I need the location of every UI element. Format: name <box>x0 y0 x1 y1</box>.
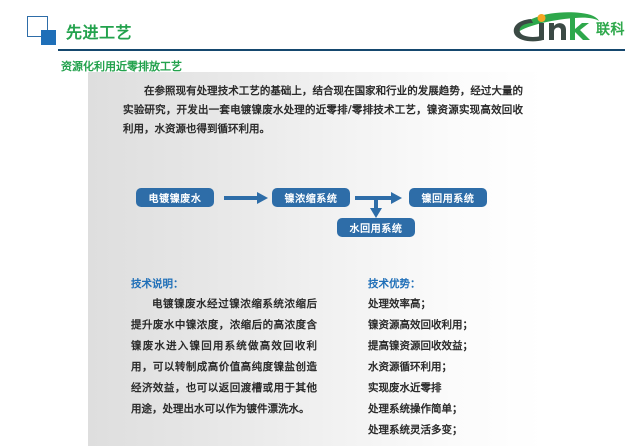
tech-description-text: 电镀镍废水经过镍浓缩系统浓缩后提升废水中镍浓度，浓缩后的高浓度含镍废水进入镍回用… <box>131 294 317 420</box>
tech-description-heading: 技术说明： <box>131 276 184 291</box>
list-item: 镍资源高效回收利用； <box>368 315 548 336</box>
intro-paragraph: 在参照现有处理技术工艺的基础上，结合现在国家和行业的发展趋势，经过大量的实验研究… <box>123 82 523 139</box>
brand-letter-i <box>539 23 544 40</box>
list-item: 实现废水近零排 <box>368 378 548 399</box>
list-item: 处理系统灵活多变； <box>368 420 548 441</box>
tech-advantages-list: 处理效率高； 镍资源高效回收利用； 提高镍资源回收效益； 水资源循环利用； 实现… <box>368 294 548 441</box>
squares-logo-icon <box>27 16 57 46</box>
page-title: 先进工艺 <box>66 19 132 43</box>
link-brand-logo: 联科 <box>509 10 627 44</box>
list-item: 处理系统操作简单； <box>368 399 548 420</box>
list-item: 水资源循环利用； <box>368 357 548 378</box>
header-divider <box>58 49 625 51</box>
brand-chinese-name: 联科 <box>596 19 625 39</box>
tech-advantages-heading: 技术优势： <box>368 276 421 291</box>
slide-root: 先进工艺 资源化利用近零排放工艺 联科 在参照现有处理技术工艺的基础上，结合现在… <box>0 0 641 446</box>
brand-dot-icon <box>538 14 546 22</box>
list-item: 提高镍资源回收效益； <box>368 336 548 357</box>
list-item: 处理效率高； <box>368 294 548 315</box>
brand-letter-n <box>549 23 566 40</box>
logo-filled-square <box>41 30 56 45</box>
brand-letter-k <box>570 14 590 40</box>
